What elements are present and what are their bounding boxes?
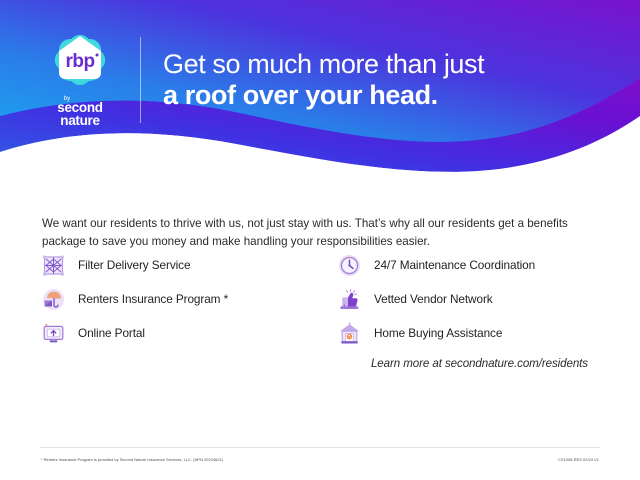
benefit-label: Renters Insurance Program * bbox=[78, 292, 228, 306]
filter-mesh-icon bbox=[40, 252, 66, 278]
rbp-logo-mark: rbp bbox=[47, 33, 113, 93]
benefit-item-online-portal: Online Portal bbox=[40, 316, 336, 350]
logo-nature-text: nature bbox=[57, 114, 102, 127]
benefits-list: Filter Delivery Service 24/7 Maintenance… bbox=[40, 248, 600, 350]
hero-content: rbp by second nature Get so much more th… bbox=[0, 0, 640, 160]
benefit-label: Vetted Vendor Network bbox=[374, 292, 493, 306]
benefit-label: Home Buying Assistance bbox=[374, 326, 502, 340]
benefit-item-filter-delivery-service: Filter Delivery Service bbox=[40, 248, 336, 282]
benefit-label: Online Portal bbox=[78, 326, 145, 340]
document-code: CS1008-RES 02/24 V1 bbox=[558, 457, 599, 462]
rbp-logo-wordmark: by second nature bbox=[57, 96, 102, 127]
rbp-logo: rbp by second nature bbox=[26, 33, 134, 127]
svg-text:rbp: rbp bbox=[65, 51, 94, 72]
benefit-label: Filter Delivery Service bbox=[78, 258, 190, 272]
learn-more-text: Learn more at secondnature.com/residents bbox=[371, 357, 588, 370]
hero-banner: rbp by second nature Get so much more th… bbox=[0, 0, 640, 190]
headline-line-2: a roof over your head. bbox=[163, 80, 484, 111]
logo-divider bbox=[140, 37, 141, 123]
clock-icon bbox=[336, 252, 362, 278]
rbp-badge-icon: rbp bbox=[47, 33, 113, 93]
thumbs-up-icon bbox=[336, 286, 362, 312]
footnote-text: * Renters Insurance Program is provided … bbox=[41, 457, 223, 462]
benefit-item-home-buying-assistance: Home Buying Assistance bbox=[336, 316, 600, 350]
benefit-item-maintenance-coordination: 24/7 Maintenance Coordination bbox=[336, 248, 600, 282]
house-icon bbox=[336, 320, 362, 346]
benefit-label: 24/7 Maintenance Coordination bbox=[374, 258, 535, 272]
headline-line-1: Get so much more than just bbox=[163, 49, 484, 80]
hero-headline: Get so much more than just a roof over y… bbox=[163, 49, 484, 112]
umbrella-icon bbox=[40, 286, 66, 312]
intro-paragraph: We want our residents to thrive with us,… bbox=[42, 215, 594, 253]
monitor-icon bbox=[40, 320, 66, 346]
benefit-item-vetted-vendor-network: Vetted Vendor Network bbox=[336, 282, 600, 316]
footer-divider bbox=[40, 447, 600, 448]
benefit-item-renters-insurance-program: Renters Insurance Program * bbox=[40, 282, 336, 316]
